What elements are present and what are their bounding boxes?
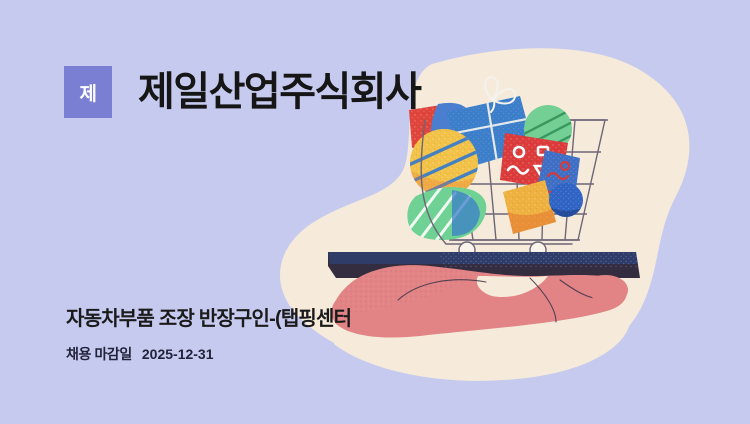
deadline-label: 채용 마감일 — [66, 346, 132, 362]
brand-row: 제 제일산업주식회사 — [64, 66, 420, 118]
job-posting-card: 제 제일산업주식회사 자동차부품 조장 반장구인-(탭핑센터 채용 마감일202… — [0, 0, 750, 424]
company-name: 제일산업주식회사 — [138, 72, 420, 112]
job-title: 자동차부품 조장 반장구인-(탭핑센터 — [66, 302, 351, 331]
deadline-date: 2025-12-31 — [142, 346, 214, 362]
deadline-row: 채용 마감일2025-12-31 — [66, 344, 214, 364]
company-logo-badge: 제 — [64, 66, 112, 118]
text-layer: 제 제일산업주식회사 자동차부품 조장 반장구인-(탭핑센터 채용 마감일202… — [0, 0, 750, 424]
